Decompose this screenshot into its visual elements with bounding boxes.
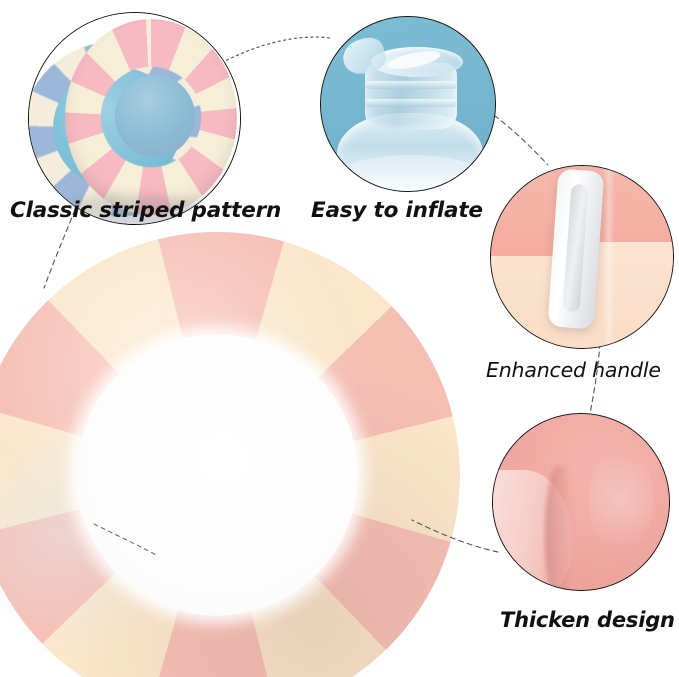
callout-easy-to-inflate[interactable] [320, 16, 496, 192]
pink-ring-inner-disc [115, 75, 195, 157]
callout-striped-pattern[interactable] [28, 12, 241, 225]
material-shine [589, 440, 653, 560]
connector-inflate-to-handle [487, 110, 548, 165]
main-swim-ring-image [0, 232, 460, 677]
ring-center-hole [76, 334, 358, 616]
product-feature-infographic: Classic striped pattern Easy to inflate … [0, 0, 679, 677]
valve-ridge-upper [365, 81, 457, 89]
caption-enhanced-handle: Enhanced handle [486, 358, 661, 382]
callout-enhanced-handle[interactable] [490, 165, 674, 349]
segment-seam [603, 166, 615, 348]
valve-ridge-lower [365, 99, 457, 107]
caption-striped-pattern: Classic striped pattern [10, 198, 281, 223]
material-crease [545, 466, 571, 591]
caption-thicken-design: Thicken design [500, 608, 675, 632]
callout-thicken-design[interactable] [492, 413, 670, 591]
caption-easy-to-inflate: Easy to inflate [311, 198, 483, 223]
